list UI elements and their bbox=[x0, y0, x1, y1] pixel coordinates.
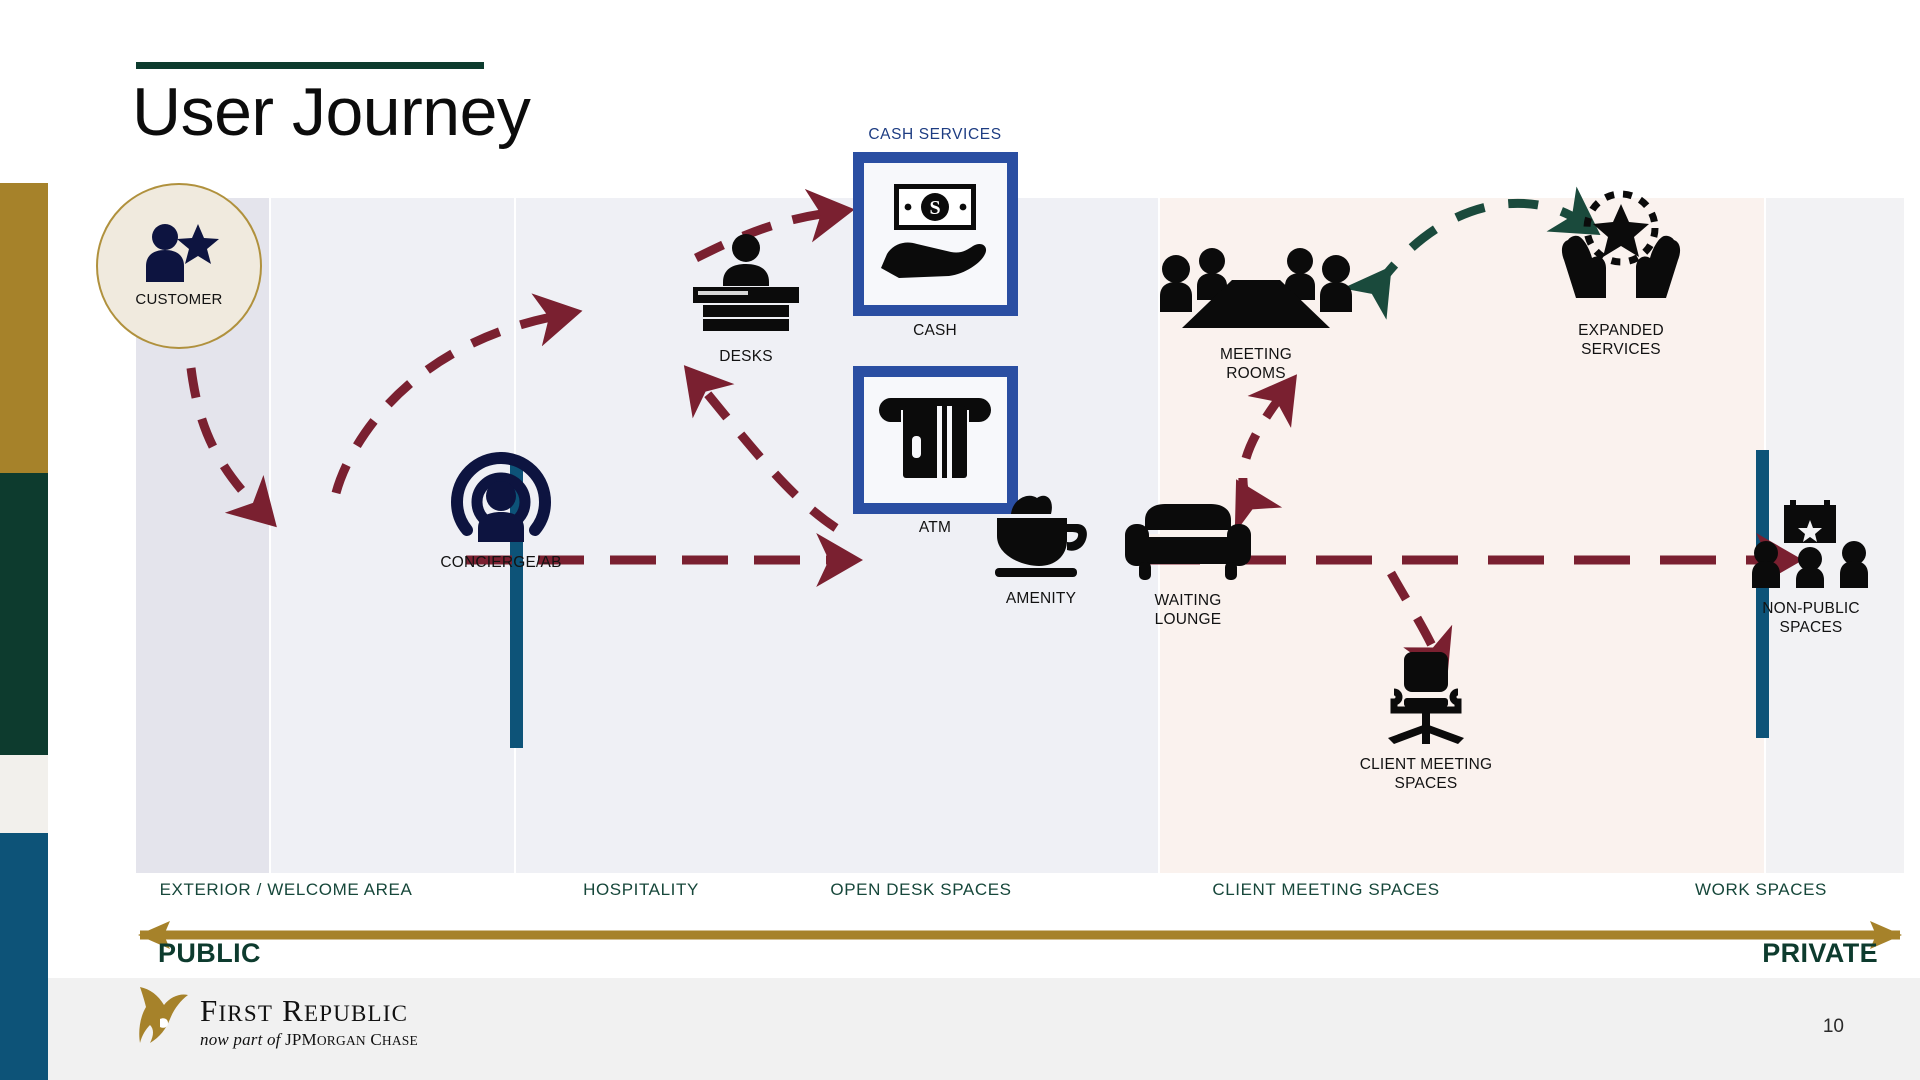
node-client-meeting-spaces[interactable]: CLIENT MEETING SPACES bbox=[1311, 648, 1541, 794]
node-expanded-services[interactable]: EXPANDED SERVICES bbox=[1521, 188, 1721, 360]
node-label: CUSTOMER bbox=[135, 291, 222, 310]
node-desks[interactable]: DESKS bbox=[651, 234, 841, 366]
logo-tagline-c: C bbox=[370, 1030, 382, 1049]
node-meeting-rooms[interactable]: MEETING ROOMS bbox=[1136, 250, 1376, 384]
cash-in-hand-icon: S bbox=[877, 178, 993, 291]
node-label: DESKS bbox=[651, 347, 841, 366]
node-label: CASH bbox=[830, 321, 1040, 340]
edge-block-gold bbox=[0, 183, 48, 473]
slide-footer: FIRST REPUBLIC now part of JPMORGAN CHAS… bbox=[48, 978, 1920, 1080]
staff-badge-people-icon bbox=[1711, 498, 1911, 595]
teller-desk-icon bbox=[651, 234, 841, 343]
axis-label-exterior-welcome-area: EXTERIOR / WELCOME AREA bbox=[136, 880, 436, 900]
edge-block-green bbox=[0, 473, 48, 755]
page-title: User Journey bbox=[132, 78, 530, 147]
eagle-icon bbox=[136, 985, 190, 1056]
edge-block-cream bbox=[0, 755, 48, 833]
title-underline-rule bbox=[136, 62, 484, 69]
cash-icon-box[interactable]: S bbox=[853, 152, 1018, 316]
node-label: EXPANDED SERVICES bbox=[1521, 321, 1721, 360]
conference-table-people-icon bbox=[1136, 250, 1376, 341]
customer-medallion[interactable]: CUSTOMER bbox=[96, 183, 262, 349]
logo-name-epublic: EPUBLIC bbox=[304, 1001, 408, 1026]
logo-tagline-hase: HASE bbox=[382, 1033, 418, 1048]
node-label: NON-PUBLIC SPACES bbox=[1711, 599, 1911, 638]
user-journey-diagram: CUSTOMER CONCIERGE/AB bbox=[136, 198, 1904, 873]
group-cash-services: CASH SERVICES S CASH bbox=[830, 126, 1040, 538]
node-nonpublic-spaces[interactable]: NON-PUBLIC SPACES bbox=[1711, 498, 1911, 638]
arrow-open-desk-to-desks bbox=[701, 386, 836, 528]
node-cash[interactable]: S CASH bbox=[830, 152, 1040, 340]
node-label: CONCIERGE/AB bbox=[406, 553, 596, 572]
sofa-icon bbox=[1088, 500, 1288, 587]
node-waiting-lounge[interactable]: WAITING LOUNGE bbox=[1088, 500, 1288, 630]
axis-label-hospitality: HOSPITALITY bbox=[531, 880, 751, 900]
first-republic-logo: FIRST REPUBLIC now part of JPMORGAN CHAS… bbox=[136, 985, 418, 1056]
axis-label-open-desk-spaces: OPEN DESK SPACES bbox=[776, 880, 1066, 900]
logo-wordmark: FIRST REPUBLIC now part of JPMORGAN CHAS… bbox=[200, 993, 418, 1050]
axis-zone-labels: EXTERIOR / WELCOME AREA HOSPITALITY OPEN… bbox=[136, 880, 1904, 906]
axis-label-client-meeting-spaces: CLIENT MEETING SPACES bbox=[1166, 880, 1486, 900]
atm-card-slot-icon bbox=[881, 388, 989, 493]
axis-endpoint-public: PUBLIC bbox=[158, 938, 261, 969]
axis-label-work-spaces: WORK SPACES bbox=[1631, 880, 1891, 900]
group-title-cash-services: CASH SERVICES bbox=[830, 126, 1040, 144]
logo-tagline-jpm: JPM bbox=[285, 1030, 317, 1049]
office-chair-icon bbox=[1311, 648, 1541, 751]
logo-tagline: now part of JPMORGAN CHASE bbox=[200, 1030, 418, 1050]
axis-double-arrow bbox=[136, 918, 1904, 927]
node-label: WAITING LOUNGE bbox=[1088, 591, 1288, 630]
node-label: MEETING ROOMS bbox=[1136, 345, 1376, 384]
arrow-to-client-meeting-spaces bbox=[1391, 573, 1436, 654]
axis-endpoint-private: PRIVATE bbox=[1762, 938, 1878, 969]
person-star-icon bbox=[140, 222, 218, 289]
page-number: 10 bbox=[1823, 1016, 1844, 1038]
logo-name-irst: IRST bbox=[218, 1001, 273, 1026]
logo-name-r: R bbox=[282, 993, 304, 1028]
brand-edge-bars bbox=[0, 0, 48, 1080]
concierge-broadcast-icon bbox=[406, 448, 596, 549]
arrow-waiting-meeting-bidirectional bbox=[1243, 396, 1281, 503]
hands-holding-star-icon bbox=[1521, 188, 1721, 317]
node-customer[interactable]: CUSTOMER bbox=[96, 183, 262, 349]
logo-tagline-organ: ORGAN bbox=[317, 1033, 366, 1048]
arrow-customer-to-concierge bbox=[191, 368, 258, 508]
logo-tagline-nowpartof: now part of bbox=[200, 1030, 281, 1049]
node-label: CLIENT MEETING SPACES bbox=[1311, 755, 1541, 794]
logo-name: FIRST REPUBLIC bbox=[200, 993, 418, 1029]
logo-name-f: F bbox=[200, 993, 218, 1028]
edge-block-blue bbox=[0, 833, 48, 1080]
node-concierge[interactable]: CONCIERGE/AB bbox=[406, 448, 596, 572]
svg-text:S: S bbox=[929, 197, 940, 219]
